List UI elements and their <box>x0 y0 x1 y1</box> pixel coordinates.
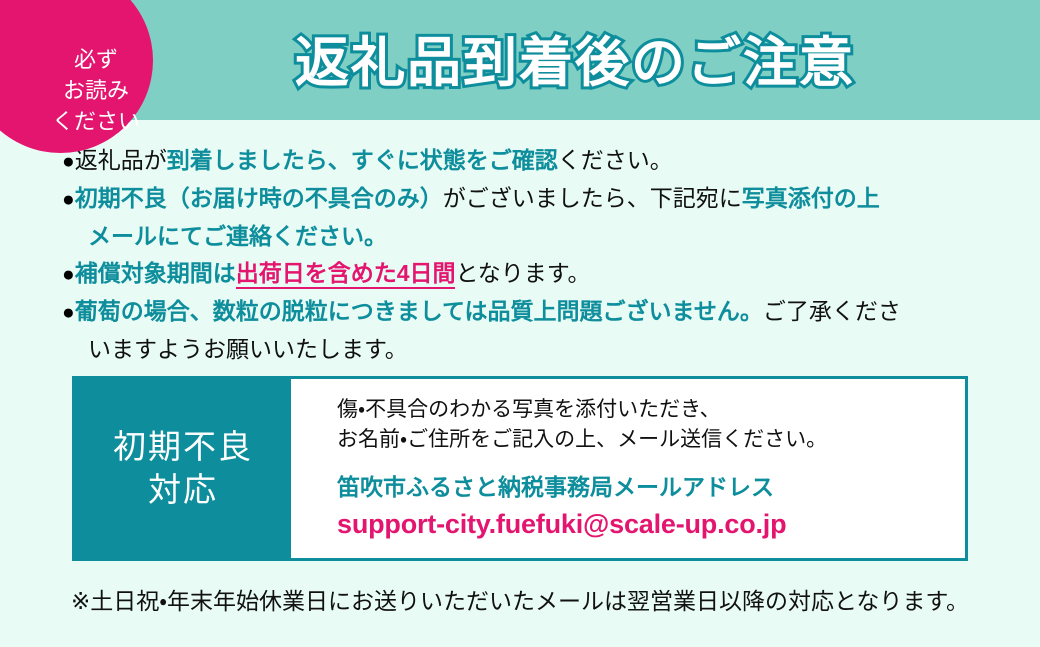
badge-line-1: 必ず <box>12 44 180 75</box>
notice-bullet-list: ●返礼品が到着しましたら、すぐに状態をご確認ください。●初期不良（お届け時の不具… <box>62 142 1022 368</box>
bullet-marker-icon: ● <box>62 301 75 324</box>
notice-bullet: ●葡萄の場合、数粒の脱粒につきましては品質上問題ございません。ご了承くださ <box>62 293 1022 331</box>
badge-line-2: お読み <box>12 75 180 106</box>
bullet-text-segment: 葡萄の場合、数粒の脱粒につきましては品質上問題ございません。 <box>75 298 763 324</box>
instruction-line-1: 傷・不具合のわかる写真を添付いただき、 <box>337 395 965 425</box>
support-email-address[interactable]: support-city.fuefuki@scale-up.co.jp <box>337 509 965 540</box>
initial-defect-label-line-1: 初期不良 <box>113 426 253 469</box>
initial-defect-label-panel: 初期不良 対応 <box>75 379 291 558</box>
bullet-marker-icon: ● <box>62 150 75 173</box>
notice-bullet: ●補償対象期間は出荷日を含めた4日間となります。 <box>62 255 1022 293</box>
must-read-badge-text: 必ず お読み ください <box>12 44 180 138</box>
bullet-text-segment: 写真添付の上 <box>742 185 880 211</box>
notice-bullet-continuation: メールにてご連絡ください。 <box>62 218 1022 255</box>
notice-flyer: 返礼品到着後のご注意 必ず お読み ください ●返礼品が到着しましたら、すぐに状… <box>0 0 1040 647</box>
initial-defect-label-line-2: 対応 <box>148 469 218 512</box>
bullet-text-segment: 出荷日を含めた4日間 <box>236 260 456 289</box>
bullet-text-segment: 到着しましたら、すぐに状態をご確認 <box>167 147 558 173</box>
bullet-text-segment: ご了承くださ <box>763 298 901 324</box>
notice-bullet: ●初期不良（お届け時の不具合のみ）がございましたら、下記宛に写真添付の上 <box>62 180 1022 218</box>
instruction-line-2: お名前・ご住所をご記入の上、メール送信ください。 <box>337 425 965 455</box>
footer-note: ※土日祝・年末年始休業日にお送りいただいたメールは翌営業日以降の対応となります。 <box>0 582 1040 616</box>
bullet-marker-icon: ● <box>62 263 75 286</box>
notice-bullet-continuation: いますようお願いいたします。 <box>62 331 1022 368</box>
bullet-marker-icon: ● <box>62 188 75 211</box>
bullet-text-segment: となります。 <box>455 260 590 286</box>
bullet-text-segment: 補償対象期間は <box>75 260 236 286</box>
badge-line-3: ください <box>12 106 180 137</box>
bullet-text-segment: ください。 <box>558 147 673 173</box>
notice-bullet: ●返礼品が到着しましたら、すぐに状態をご確認ください。 <box>62 142 1022 180</box>
bullet-text-segment: 返礼品が <box>75 147 167 173</box>
bullet-text-segment: いますようお願いいたします。 <box>88 336 408 362</box>
bullet-text-segment: 初期不良（お届け時の不具合のみ） <box>75 185 443 211</box>
initial-defect-response-box: 初期不良 対応 傷・不具合のわかる写真を添付いただき、 お名前・ご住所をご記入の… <box>72 376 968 561</box>
initial-defect-details-panel: 傷・不具合のわかる写真を添付いただき、 お名前・ご住所をご記入の上、メール送信く… <box>291 379 965 558</box>
office-mail-label: 笛吹市ふるさと納税事務局メールアドレス <box>337 468 965 502</box>
bullet-text-segment: がございましたら、下記宛に <box>443 185 742 211</box>
bullet-text-segment: メールにてご連絡ください。 <box>88 223 387 249</box>
